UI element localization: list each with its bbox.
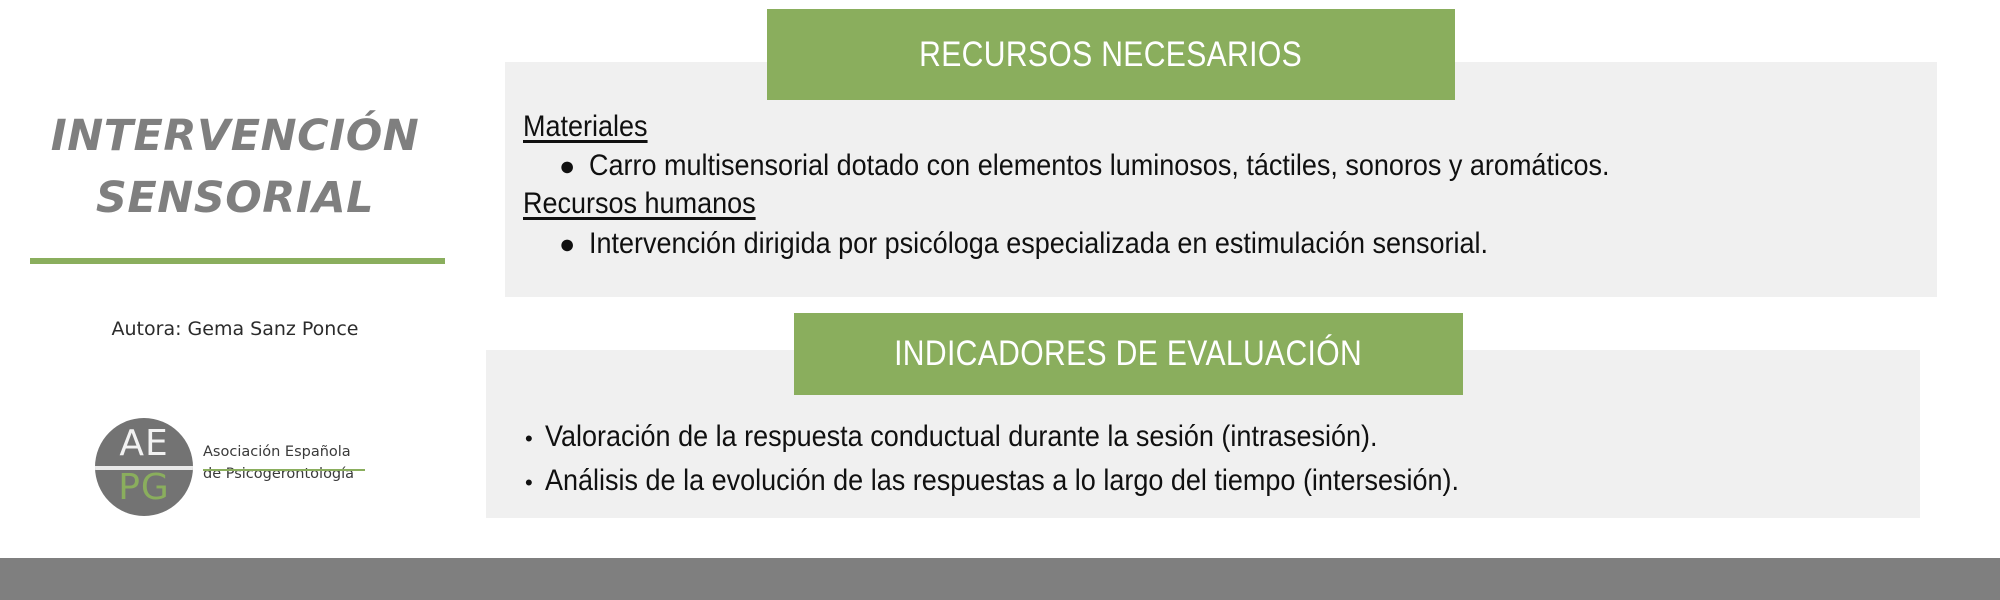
aepg-logo: AE PG Asociación Española de Psicogeront…	[95, 418, 365, 516]
logo-wordmark-line-2: de Psicogerontología	[203, 464, 365, 486]
bullet-dot-icon: ●	[559, 149, 575, 184]
bullet-dot-icon: ●	[559, 227, 575, 262]
title-panel: INTERVENCIÓN SENSORIAL Autora: Gema Sanz…	[0, 0, 470, 600]
section-content-indicadores: • Valoración de la respuesta conductual …	[525, 415, 1915, 502]
section-banner-recursos: RECURSOS NECESARIOS	[767, 9, 1455, 100]
logo-initials-top: AE	[95, 426, 193, 462]
list-item-text: Análisis de la evolución de las respuest…	[545, 459, 1459, 503]
logo-wordmark: Asociación Española de Psicogerontología	[203, 442, 365, 486]
footer-bar	[0, 558, 2000, 600]
list-item-text: Carro multisensorial dotado con elemento…	[589, 146, 1609, 185]
section-banner-label: INDICADORES DE EVALUACIÓN	[894, 334, 1362, 374]
section-content-recursos: Materiales ● Carro multisensorial dotado…	[523, 108, 1923, 263]
logo-initials-bottom: PG	[95, 470, 193, 506]
list-item: ● Carro multisensorial dotado con elemen…	[559, 146, 1923, 185]
subheading-materiales: Materiales	[523, 108, 1783, 146]
section-banner-indicadores: INDICADORES DE EVALUACIÓN	[794, 313, 1463, 395]
list-item: ● Intervención dirigida por psicóloga es…	[559, 224, 1923, 263]
list-item-text: Intervención dirigida por psicóloga espe…	[589, 224, 1488, 263]
bullet-dot-icon: •	[525, 467, 533, 499]
list-item: • Valoración de la respuesta conductual …	[525, 415, 1915, 459]
subheading-recursos-humanos: Recursos humanos	[523, 185, 1783, 223]
bullet-dot-icon: •	[525, 423, 533, 455]
logo-wordmark-line-1: Asociación Española	[203, 442, 365, 464]
list-item: • Análisis de la evolución de las respue…	[525, 459, 1915, 503]
logo-wordmark-rule	[203, 469, 365, 471]
author-credit: Autora: Gema Sanz Ponce	[0, 318, 470, 340]
page-title: INTERVENCIÓN SENSORIAL	[0, 105, 470, 230]
title-accent-rule	[30, 258, 445, 264]
logo-circle-icon: AE PG	[95, 418, 193, 516]
section-banner-label: RECURSOS NECESARIOS	[920, 35, 1303, 75]
list-item-text: Valoración de la respuesta conductual du…	[545, 415, 1378, 459]
slide-canvas: INTERVENCIÓN SENSORIAL Autora: Gema Sanz…	[0, 0, 2000, 600]
